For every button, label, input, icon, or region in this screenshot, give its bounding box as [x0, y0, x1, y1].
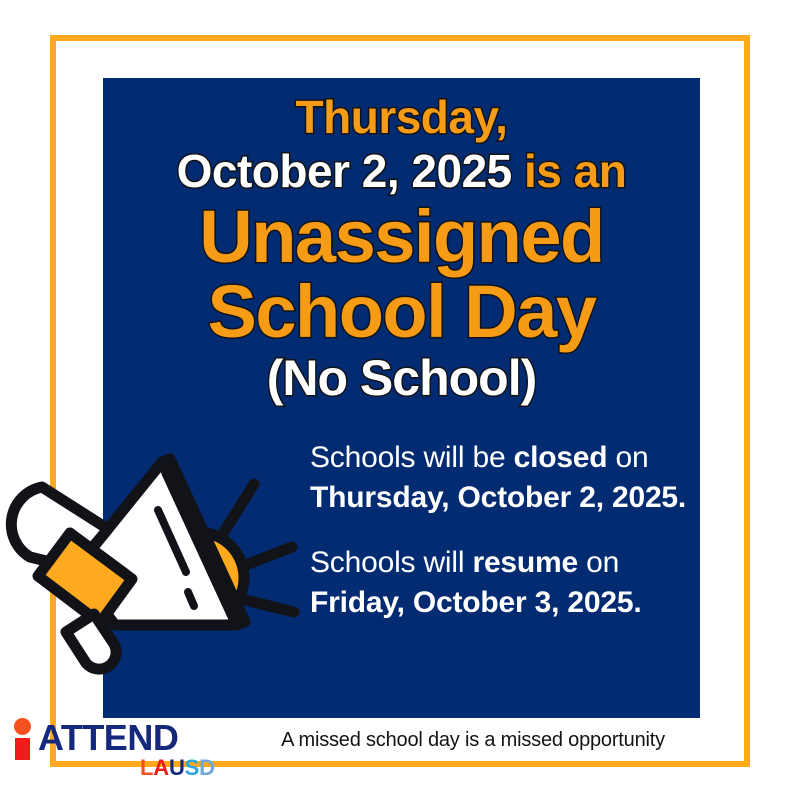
poster-canvas: Thursday, October 2, 2025 is an Unassign…: [0, 0, 800, 800]
logo-lausd-text: LAUSD: [140, 757, 215, 779]
logo-lausd-u: U: [169, 755, 185, 780]
headline-date-white: October 2, 2025: [177, 145, 512, 197]
logo-wordmark-row: ATTEND: [8, 716, 228, 756]
logo-i-icon: [14, 718, 31, 758]
logo-lausd-s: S: [185, 755, 199, 780]
headline-line-no-school: (No School): [103, 349, 700, 408]
headline-line-date: October 2, 2025 is an: [103, 144, 700, 198]
logo-i-stem-icon: [15, 738, 30, 760]
logo-lausd-l: L: [140, 755, 153, 780]
body-paragraph-resume: Schools will resume on Friday, October 3…: [310, 543, 690, 622]
headline-line-schoolday: School Day: [103, 274, 700, 349]
headline-block: Thursday, October 2, 2025 is an Unassign…: [103, 90, 700, 408]
logo-lausd-d: D: [199, 755, 215, 780]
headline-line-unassigned: Unassigned: [103, 199, 700, 274]
logo-lausd-a: A: [153, 755, 169, 780]
headline-isan-orange: is an: [512, 145, 627, 197]
megaphone-illustration: [2, 432, 302, 692]
logo-i-dot-icon: [14, 718, 31, 735]
tagline-text: A missed school day is a missed opportun…: [238, 729, 708, 752]
headline-line-thursday: Thursday,: [103, 90, 700, 144]
iattend-lausd-logo: ATTEND LAUSD: [8, 716, 228, 786]
logo-attend-text: ATTEND: [38, 718, 178, 758]
body-paragraph-closed: Schools will be closed on Thursday, Octo…: [310, 438, 690, 517]
body-copy-block: Schools will be closed on Thursday, Octo…: [310, 438, 690, 622]
